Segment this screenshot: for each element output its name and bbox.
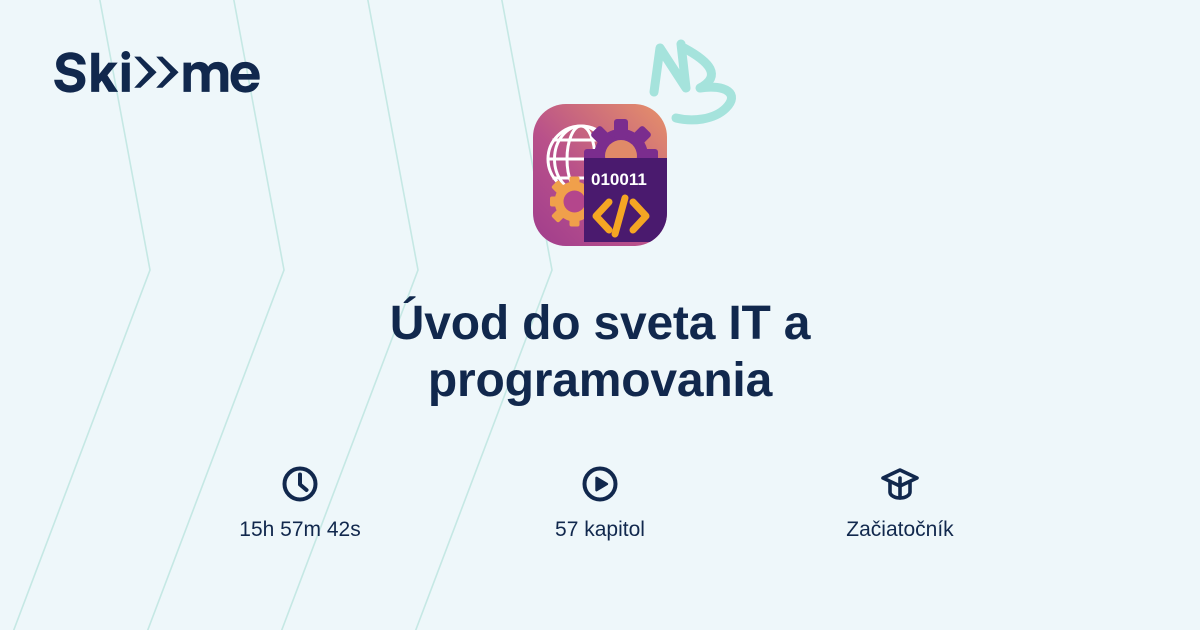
stat-duration: 15h 57m 42s (150, 462, 450, 542)
course-title-line-1: Úvod do sveta IT a (150, 296, 1050, 353)
stat-chapters: 57 kapitol (450, 462, 750, 542)
course-stats-row: 15h 57m 42s 57 kapitol (150, 462, 1050, 542)
course-title: Úvod do sveta IT a programovania (150, 296, 1050, 409)
code-window-shape: 010011 (584, 158, 667, 242)
course-thumbnail-icon: 010011 (533, 104, 667, 246)
brand-logo[interactable] (52, 44, 262, 100)
course-title-line-2: programovania (150, 353, 1050, 410)
play-circle-icon (581, 462, 619, 506)
stat-duration-label: 15h 57m 42s (239, 518, 360, 542)
binary-text: 010011 (591, 170, 647, 189)
stat-chapters-label: 57 kapitol (555, 518, 645, 542)
stat-difficulty: Začiatočník (750, 462, 1050, 542)
clock-icon (281, 462, 319, 506)
stat-difficulty-label: Začiatočník (846, 518, 953, 542)
graduation-cap-icon (879, 462, 921, 506)
course-preview-card: 010011 Úvod do sveta IT a programovania (0, 0, 1200, 630)
